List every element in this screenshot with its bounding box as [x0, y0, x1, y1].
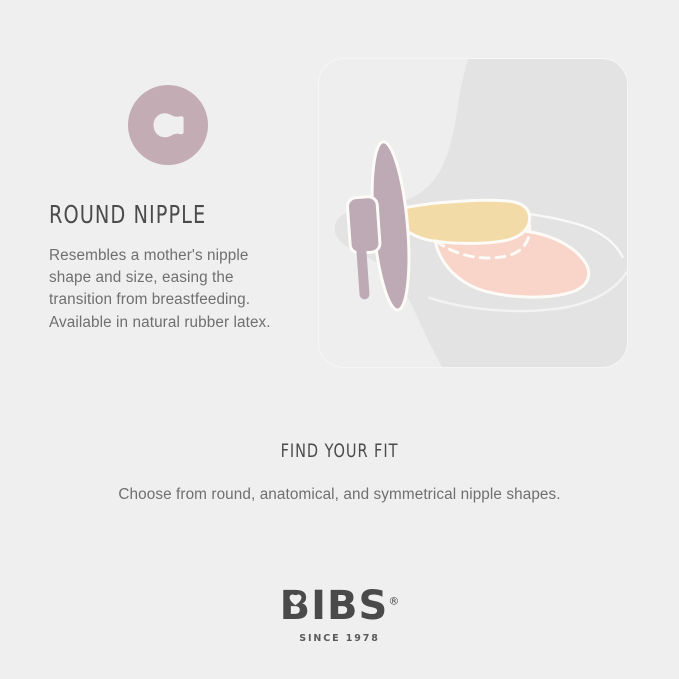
heart-icon: [289, 594, 302, 606]
round-nipple-shape-icon: [128, 85, 208, 165]
brand-wordmark-container: BIBS®: [280, 586, 400, 626]
brand-logo: BIBS® SINCE 1978: [0, 586, 679, 644]
registered-trademark-icon: ®: [388, 595, 399, 608]
find-your-fit-title: FIND YOUR FIT: [51, 440, 628, 462]
nipple-shape: [402, 200, 529, 243]
infographic-page: ROUND NIPPLE Resembles a mother's nipple…: [0, 0, 679, 679]
pacifier-in-mouth-diagram: [319, 59, 627, 367]
find-your-fit-subtitle: Choose from round, anatomical, and symme…: [0, 462, 679, 504]
brand-wordmark-text: BIBS: [280, 583, 389, 629]
feature-title: ROUND NIPPLE: [49, 165, 264, 229]
feature-block: ROUND NIPPLE Resembles a mother's nipple…: [0, 0, 679, 400]
feature-text-column: ROUND NIPPLE Resembles a mother's nipple…: [49, 85, 299, 334]
find-your-fit-section: FIND YOUR FIT Choose from round, anatomi…: [0, 440, 679, 504]
illustration-panel: [318, 58, 628, 368]
feature-description: Resembles a mother's nipple shape and si…: [49, 229, 294, 335]
